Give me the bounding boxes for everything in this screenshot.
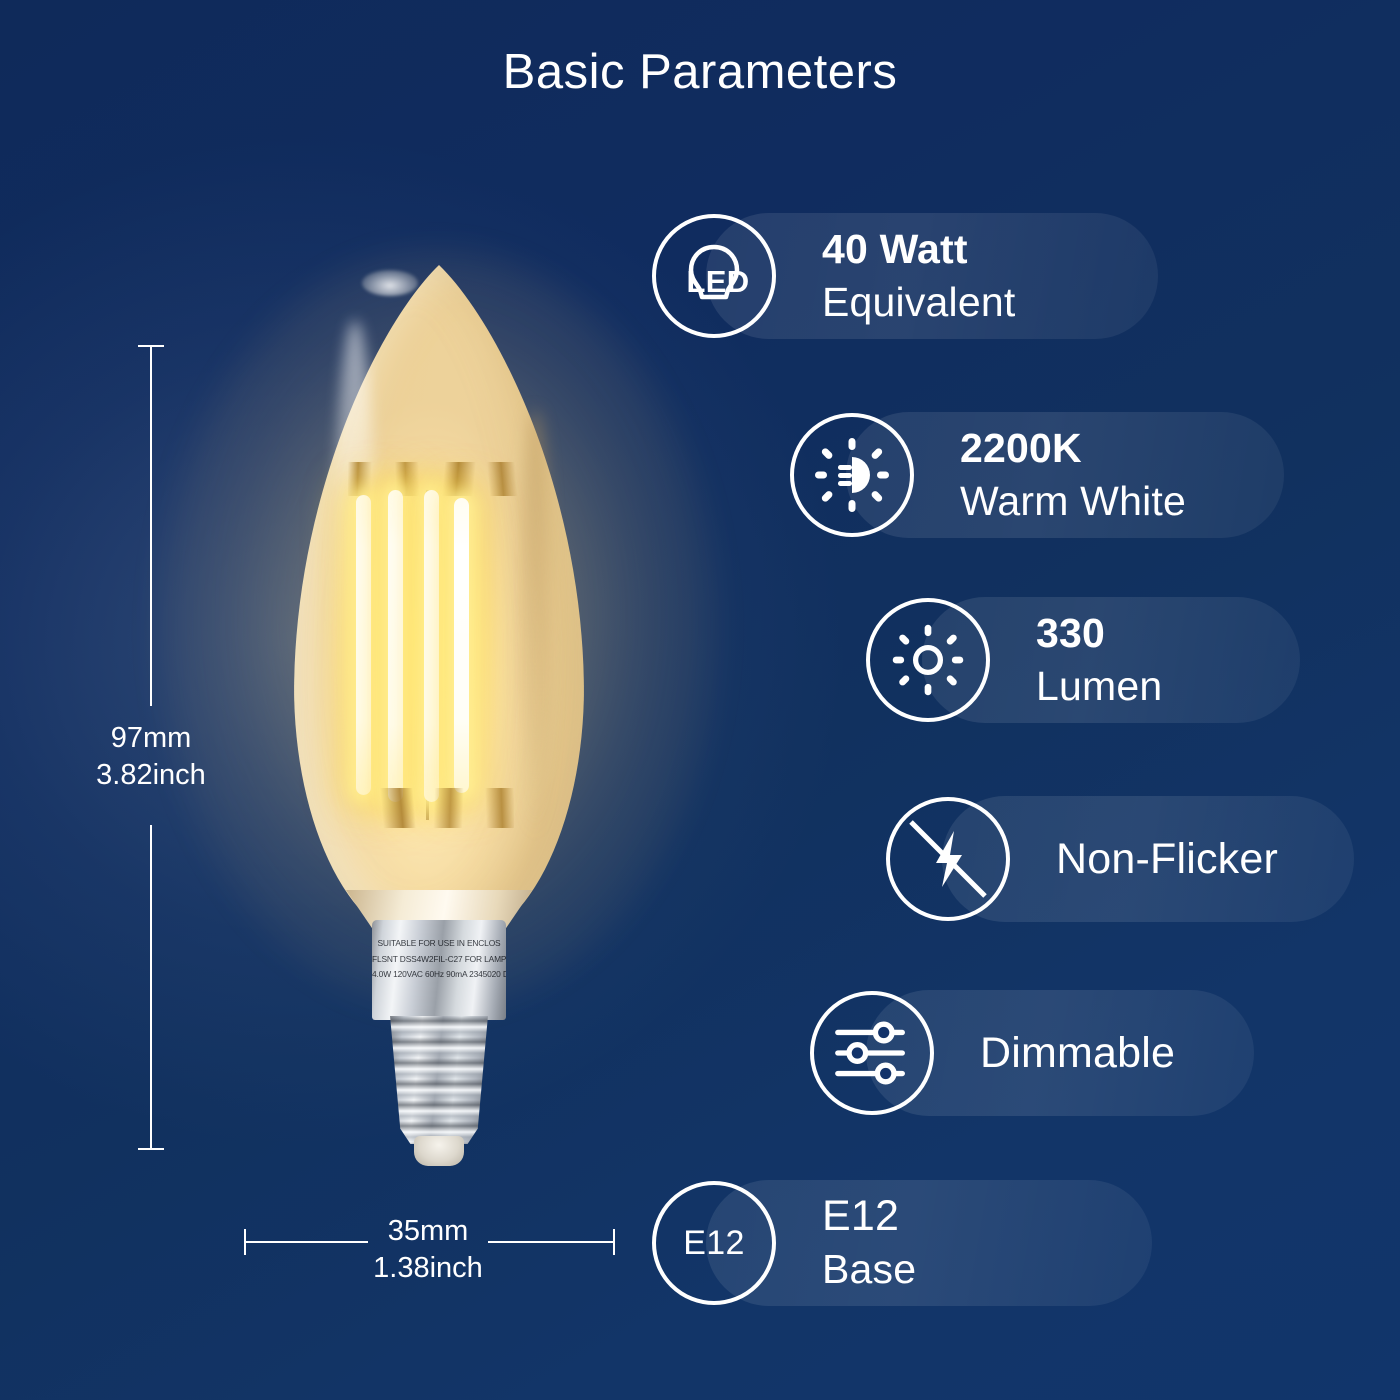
feature-value-lumen: 330 bbox=[1036, 607, 1162, 659]
feature-caption-base: Base bbox=[822, 1242, 916, 1296]
e12-base-icon: E12 bbox=[652, 1181, 776, 1305]
feature-row-non-flicker[interactable]: Non-Flicker bbox=[886, 797, 1278, 921]
feature-caption-watt: Equivalent bbox=[822, 275, 1015, 329]
feature-row-watt[interactable]: LED 40 Watt Equivalent bbox=[652, 214, 1015, 338]
led-icon-label: LED bbox=[656, 218, 780, 342]
feature-text-lumen: 330 Lumen bbox=[1036, 607, 1162, 713]
feature-list: LED 40 Watt Equivalent bbox=[0, 0, 1400, 1400]
feature-text-watt: 40 Watt Equivalent bbox=[822, 223, 1015, 329]
color-temperature-icon bbox=[790, 413, 914, 537]
feature-row-base[interactable]: E12 E12 Base bbox=[652, 1181, 916, 1305]
brightness-sun-icon bbox=[866, 598, 990, 722]
e12-icon-label: E12 bbox=[683, 1224, 744, 1263]
led-bulb-icon: LED bbox=[652, 214, 776, 338]
feature-caption-lumen: Lumen bbox=[1036, 659, 1162, 713]
feature-text-non-flicker: Non-Flicker bbox=[1056, 832, 1278, 886]
feature-value-color-temp: 2200K bbox=[960, 422, 1186, 474]
feature-caption-color-temp: Warm White bbox=[960, 474, 1186, 528]
feature-row-color-temp[interactable]: 2200K Warm White bbox=[790, 413, 1186, 537]
feature-text-dimmable: Dimmable bbox=[980, 1026, 1175, 1080]
infographic-canvas: Basic Parameters SUITABLE FOR USE IN ENC… bbox=[0, 0, 1400, 1400]
dimmer-sliders-icon bbox=[810, 991, 934, 1115]
feature-row-dimmable[interactable]: Dimmable bbox=[810, 991, 1175, 1115]
feature-value-base: E12 bbox=[822, 1190, 916, 1242]
no-flicker-icon bbox=[886, 797, 1010, 921]
feature-text-base: E12 Base bbox=[822, 1190, 916, 1296]
feature-value-watt: 40 Watt bbox=[822, 223, 1015, 275]
feature-text-color-temp: 2200K Warm White bbox=[960, 422, 1186, 528]
feature-value-non-flicker: Non-Flicker bbox=[1056, 832, 1278, 886]
feature-value-dimmable: Dimmable bbox=[980, 1026, 1175, 1080]
feature-row-lumen[interactable]: 330 Lumen bbox=[866, 598, 1162, 722]
